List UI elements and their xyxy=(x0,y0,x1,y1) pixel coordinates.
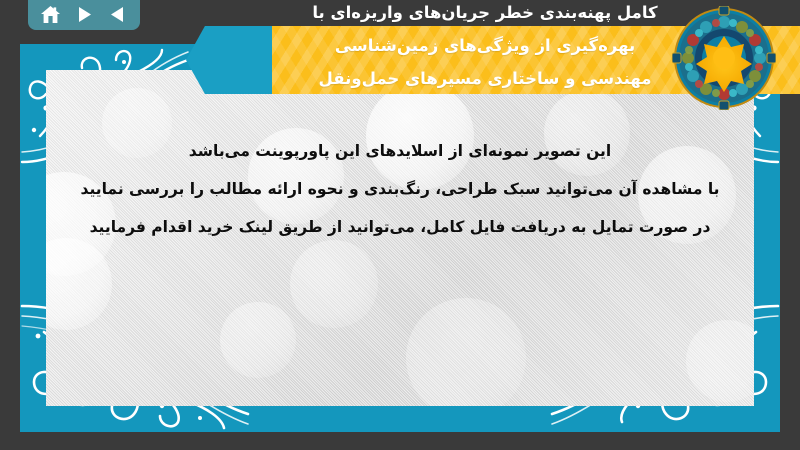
body-line-2: با مشاهده آن می‌توانید سبک طراحی، رنگ‌بن… xyxy=(46,170,754,208)
body-line-1: این تصویر نمونه‌ای از اسلایدهای این پاور… xyxy=(46,132,754,170)
body-line-3: در صورت تمایل به دریافت فایل کامل، می‌تو… xyxy=(46,208,754,246)
bokeh-circle xyxy=(406,298,526,406)
persian-medallion-icon xyxy=(672,6,776,110)
navigation-bar xyxy=(28,0,140,30)
arrow-left-icon[interactable] xyxy=(104,3,130,25)
home-icon[interactable] xyxy=(38,3,64,25)
slide-stage: این تصویر نمونه‌ای از اسلایدهای این پاور… xyxy=(0,0,800,450)
bokeh-circle xyxy=(290,240,378,328)
title-line-1: کامل پهنه‌بندی خطر جریان‌های واریزه‌ای ب… xyxy=(250,0,720,29)
arrow-right-icon[interactable] xyxy=(71,3,97,25)
body-text-block: این تصویر نمونه‌ای از اسلایدهای این پاور… xyxy=(46,132,754,246)
bokeh-circle xyxy=(220,302,296,378)
